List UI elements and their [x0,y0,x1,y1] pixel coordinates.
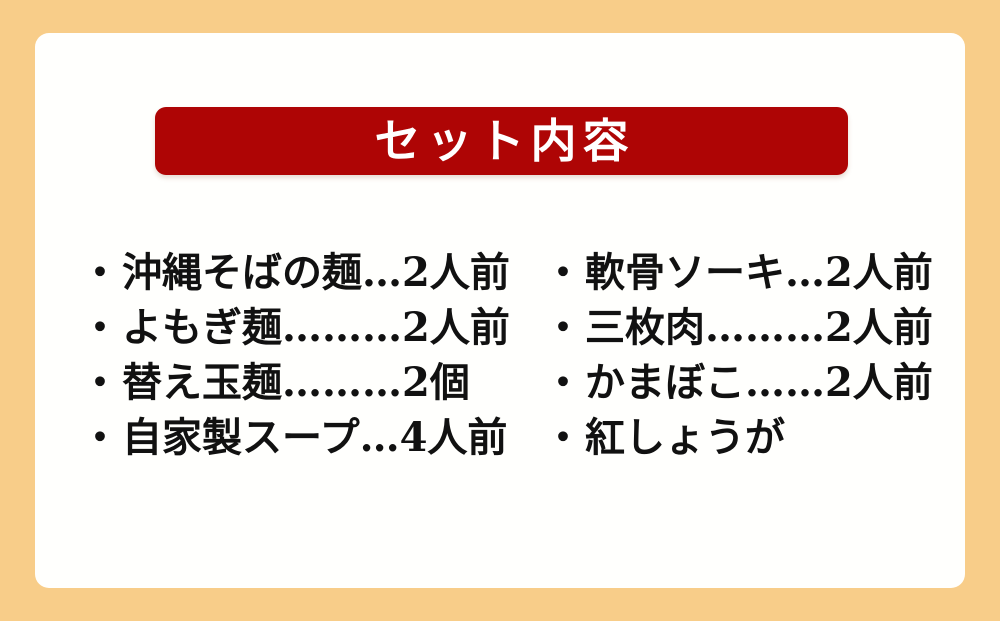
set-contents-left-column: ・ 沖縄そばの麺…2人前 ・ よもぎ麺………2人前 ・ 替え玉麺………2個 ・ … [80,245,543,465]
list-item-label: 沖縄そばの麺…2人前 [122,253,510,293]
set-contents-right-column: ・ 軟骨ソーキ…2人前 ・ 三枚肉………2人前 ・ かまぼこ……2人前 ・ 紅し… [543,245,960,465]
list-item: ・ 三枚肉………2人前 [543,300,960,355]
bullet-icon: ・ [543,308,583,348]
list-item-label: 三枚肉………2人前 [585,308,933,348]
bullet-icon: ・ [80,308,120,348]
bullet-icon: ・ [80,253,120,293]
promo-card-page: セット内容 ・ 沖縄そばの麺…2人前 ・ よもぎ麺………2人前 ・ 替え玉麺……… [0,0,1000,621]
bullet-icon: ・ [80,363,120,403]
list-item: ・ 自家製スープ…4人前 [80,410,543,465]
list-item-label: 軟骨ソーキ…2人前 [585,253,933,293]
list-item: ・ 軟骨ソーキ…2人前 [543,245,960,300]
bullet-icon: ・ [543,253,583,293]
bullet-icon: ・ [80,418,120,458]
list-item: ・ 沖縄そばの麺…2人前 [80,245,543,300]
list-item-label: よもぎ麺………2人前 [122,308,510,348]
list-item-label: 自家製スープ…4人前 [122,418,507,458]
content-card: セット内容 ・ 沖縄そばの麺…2人前 ・ よもぎ麺………2人前 ・ 替え玉麺……… [35,33,965,588]
list-item: ・ 替え玉麺………2個 [80,355,543,410]
list-item: ・ よもぎ麺………2人前 [80,300,543,355]
page-title: セット内容 [369,118,635,164]
list-item: ・ 紅しょうが [543,410,960,465]
bullet-icon: ・ [543,363,583,403]
set-contents-list: ・ 沖縄そばの麺…2人前 ・ よもぎ麺………2人前 ・ 替え玉麺………2個 ・ … [80,245,960,465]
list-item-label: 紅しょうが [585,418,785,458]
bullet-icon: ・ [543,418,583,458]
section-header-banner: セット内容 [155,107,848,175]
list-item-label: 替え玉麺………2個 [122,363,470,403]
list-item-label: かまぼこ……2人前 [585,363,933,403]
list-item: ・ かまぼこ……2人前 [543,355,960,410]
